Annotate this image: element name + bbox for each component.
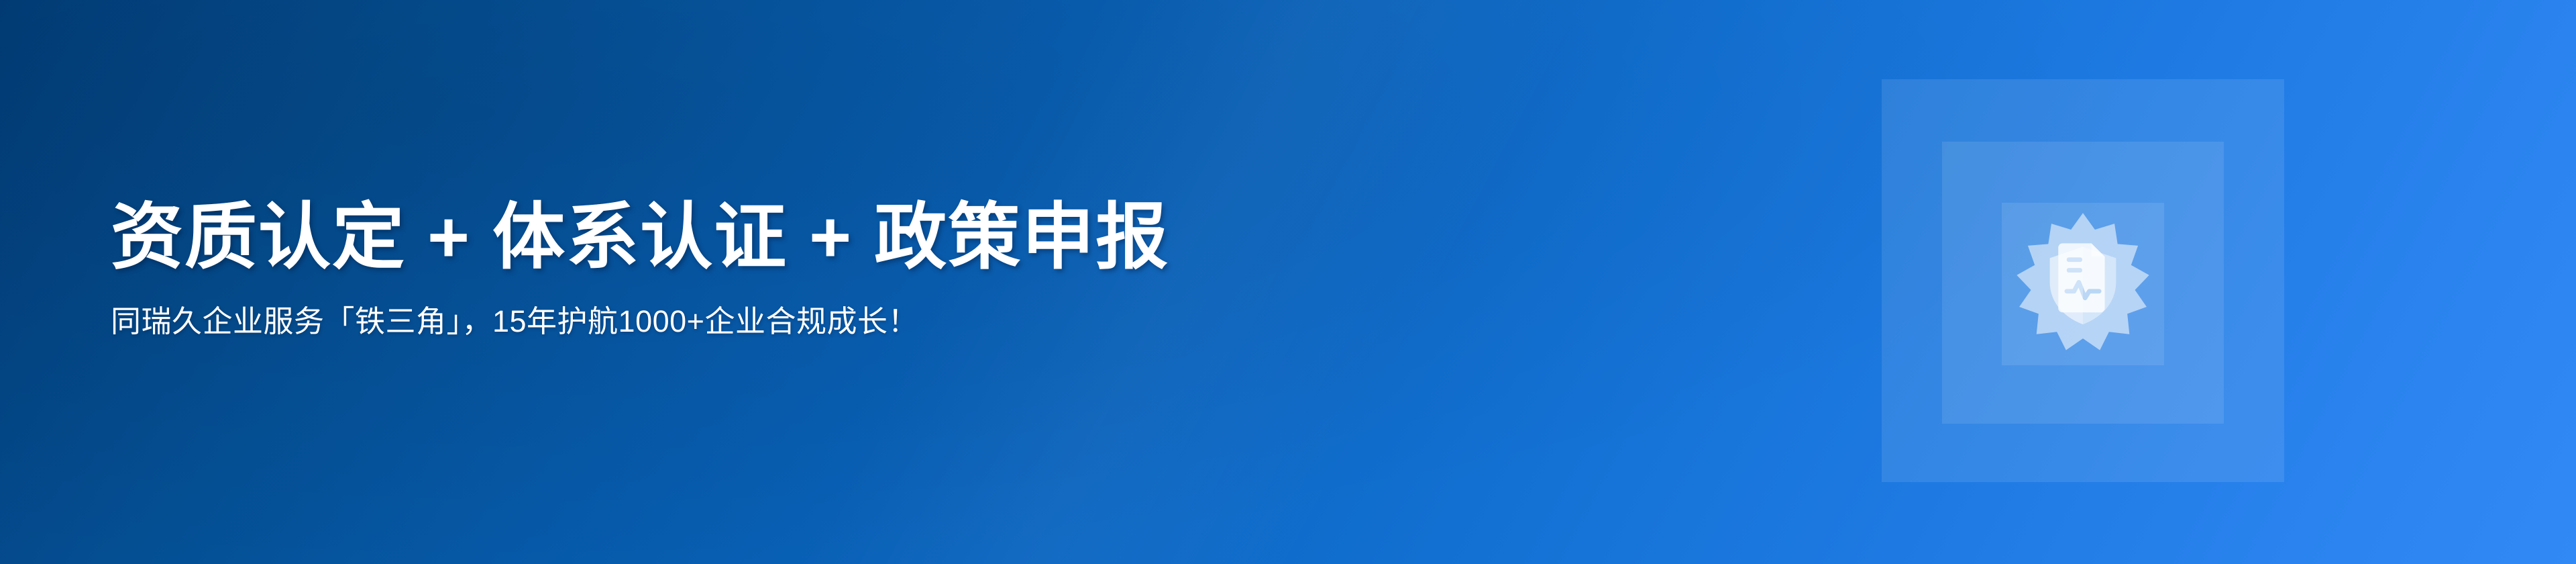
banner-headline: 资质认定 + 体系认证 + 政策申报 bbox=[111, 199, 1721, 275]
certificate-seal-icon bbox=[2012, 210, 2153, 351]
banner-copy: 资质认定 + 体系认证 + 政策申报 同瑞久企业服务「铁三角」，15年护航100… bbox=[111, 199, 1721, 342]
banner-subheadline: 同瑞久企业服务「铁三角」，15年护航1000+企业合规成长！ bbox=[111, 275, 1721, 342]
decorative-square-stack bbox=[1882, 79, 2284, 482]
hero-banner: 资质认定 + 体系认证 + 政策申报 同瑞久企业服务「铁三角」，15年护航100… bbox=[0, 0, 2576, 564]
